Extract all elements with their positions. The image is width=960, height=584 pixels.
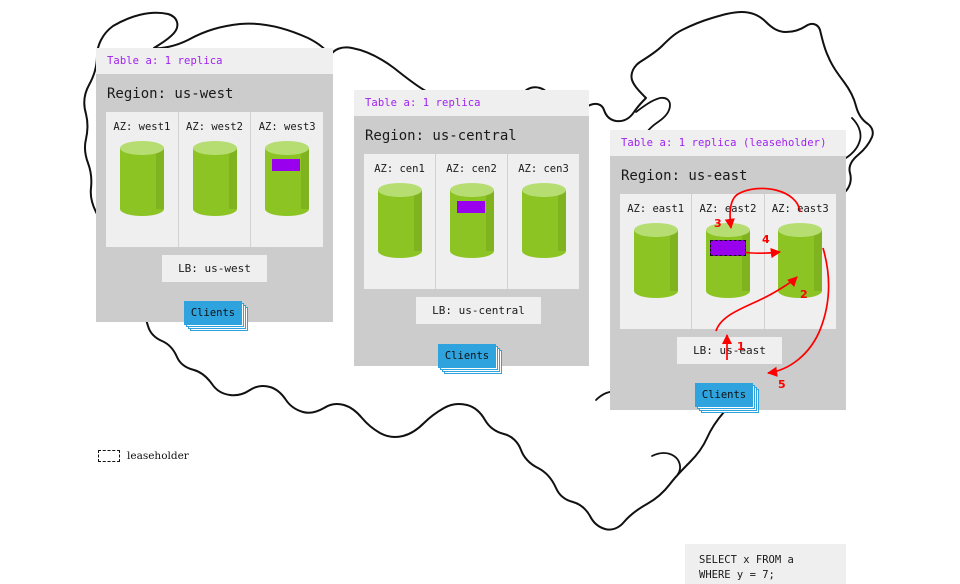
cylinder-top [634,223,678,237]
az-label-cen1: AZ: cen1 [364,163,435,175]
leaseholder-chip-east2 [710,240,746,256]
replica-cylinder-cen1[interactable] [378,183,422,258]
region-body-us-west: Region: us-west AZ: west1 AZ: west2 [96,74,333,322]
replica-cylinder-west3[interactable] [265,141,309,216]
load-balancer-us-central[interactable]: LB: us-central [416,297,541,324]
az-label-east3: AZ: east3 [765,203,836,215]
cylinder-shading [414,190,422,251]
cylinder-shading [301,148,309,209]
cylinder-shading [814,230,822,291]
load-balancer-us-west[interactable]: LB: us-west [162,255,267,282]
replica-cylinder-east3[interactable] [778,223,822,298]
az-cell-east3[interactable]: AZ: east3 [764,194,836,329]
region-title-us-central: Region: us-central [354,116,589,154]
az-cell-west2[interactable]: AZ: west2 [178,112,251,247]
az-label-west2: AZ: west2 [179,121,251,133]
cylinder-top [378,183,422,197]
cylinder-top [120,141,164,155]
cylinder-shading [486,190,494,251]
leaseholder-chip-west3 [272,159,300,171]
step-number-2: 2 [800,288,808,301]
cylinder-top [265,141,309,155]
az-row-us-east: AZ: east1 AZ: east2 [620,194,836,329]
region-header-us-west: Table a: 1 replica [96,48,333,74]
cylinder-shading [670,230,678,291]
replica-cylinder-east1[interactable] [634,223,678,298]
replica-cylinder-west1[interactable] [120,141,164,216]
replica-cylinder-cen3[interactable] [522,183,566,258]
cylinder-top [193,141,237,155]
sql-query-box: SELECT x FROM a WHERE y = 7; [685,544,846,584]
region-header-us-central: Table a: 1 replica [354,90,589,116]
region-body-us-central: Region: us-central AZ: cen1 AZ: cen2 [354,116,589,366]
az-label-west3: AZ: west3 [251,121,323,133]
leaseholder-chip-cen2 [457,201,485,213]
replica-cylinder-west2[interactable] [193,141,237,216]
clients-stack-us-east[interactable]: Clients [695,383,757,411]
replica-cylinder-east2[interactable] [706,223,750,298]
az-row-us-central: AZ: cen1 AZ: cen2 [364,154,579,289]
az-cell-east2[interactable]: AZ: east2 [691,194,763,329]
region-panel-us-central: Table a: 1 replica Region: us-central AZ… [354,90,589,366]
cylinder-shading [558,190,566,251]
clients-stack-us-central[interactable]: Clients [438,344,500,372]
clients-label-us-east[interactable]: Clients [695,383,753,407]
az-cell-east1[interactable]: AZ: east1 [620,194,691,329]
diagram-canvas: Table a: 1 replica Region: us-west AZ: w… [0,0,960,540]
region-title-us-west: Region: us-west [96,74,333,112]
az-label-east2: AZ: east2 [692,203,763,215]
cylinder-top [706,223,750,237]
az-row-us-west: AZ: west1 AZ: west2 [106,112,323,247]
step-number-3: 3 [714,217,722,230]
az-label-cen3: AZ: cen3 [508,163,579,175]
region-body-us-east: Region: us-east AZ: east1 AZ: east2 [610,156,846,410]
step-number-5: 5 [778,378,786,391]
clients-label-us-central[interactable]: Clients [438,344,496,368]
az-cell-cen3[interactable]: AZ: cen3 [507,154,579,289]
az-cell-cen1[interactable]: AZ: cen1 [364,154,435,289]
leaseholder-swatch-icon [98,450,120,462]
region-header-us-east: Table a: 1 replica (leaseholder) [610,130,846,156]
replica-cylinder-cen2[interactable] [450,183,494,258]
az-cell-west1[interactable]: AZ: west1 [106,112,178,247]
legend-label: leaseholder [127,450,189,462]
az-cell-west3[interactable]: AZ: west3 [250,112,323,247]
az-label-west1: AZ: west1 [106,121,178,133]
cylinder-top [450,183,494,197]
clients-label-us-west[interactable]: Clients [184,301,242,325]
cylinder-top [778,223,822,237]
region-title-us-east: Region: us-east [610,156,846,194]
az-label-east1: AZ: east1 [620,203,691,215]
cylinder-shading [229,148,237,209]
az-cell-cen2[interactable]: AZ: cen2 [435,154,507,289]
cylinder-shading [156,148,164,209]
cylinder-top [522,183,566,197]
load-balancer-us-east[interactable]: LB: us-east [677,337,782,364]
step-number-1: 1 [737,340,745,353]
az-label-cen2: AZ: cen2 [436,163,507,175]
step-number-4: 4 [762,233,770,246]
legend: leaseholder [98,450,189,462]
region-panel-us-east: Table a: 1 replica (leaseholder) Region:… [610,130,846,410]
region-panel-us-west: Table a: 1 replica Region: us-west AZ: w… [96,48,333,322]
clients-stack-us-west[interactable]: Clients [184,301,246,329]
